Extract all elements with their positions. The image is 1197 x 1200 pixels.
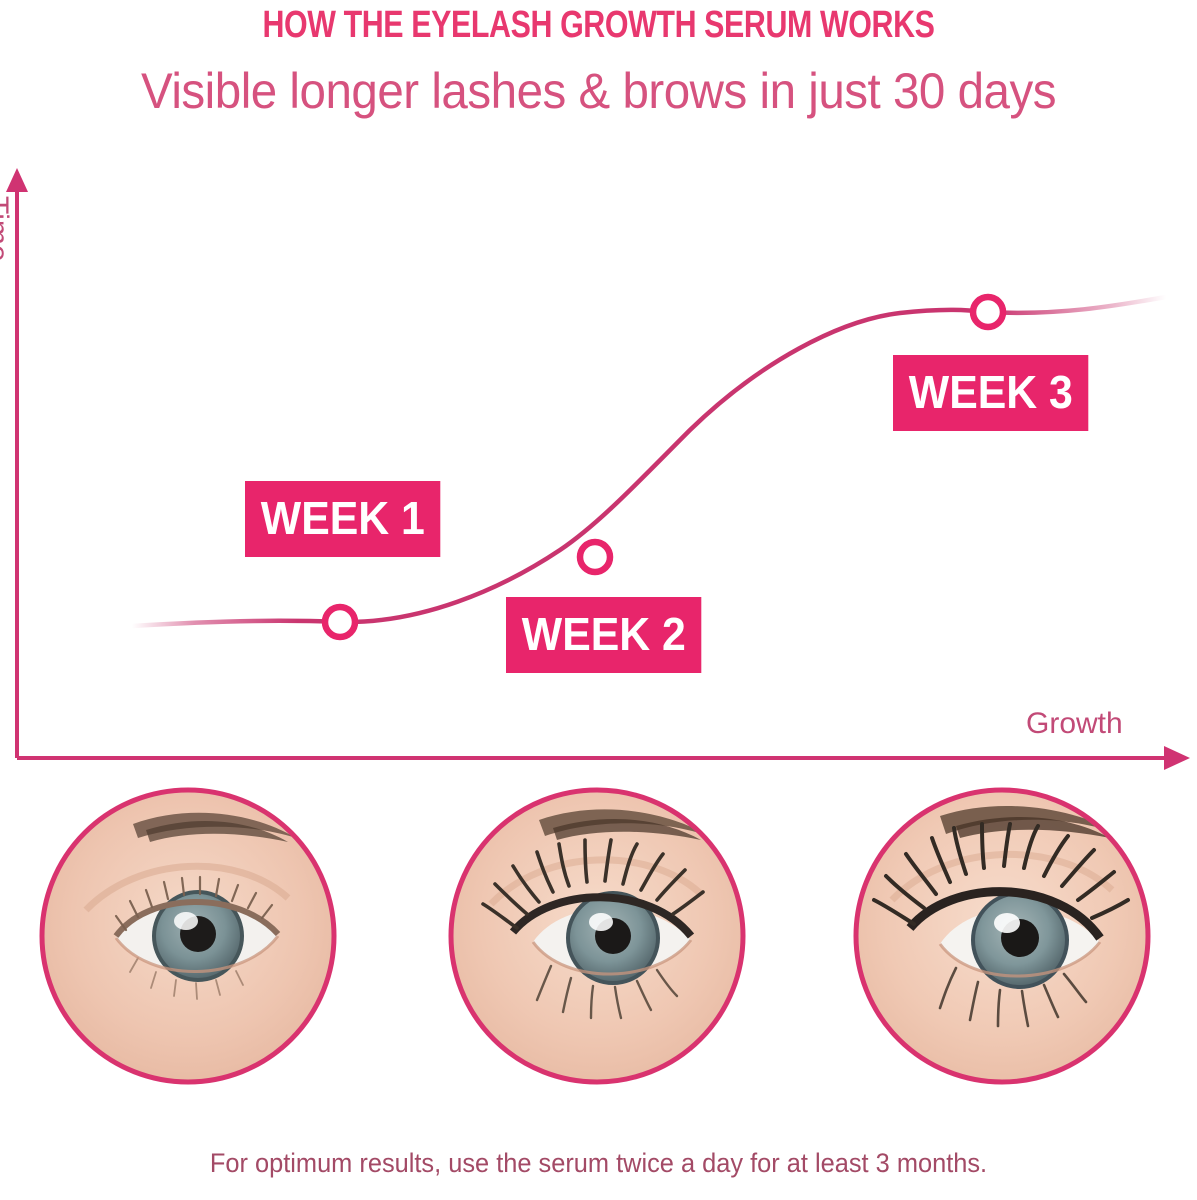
- x-axis-label: Growth: [1026, 707, 1123, 741]
- eye-photo-week-1: [38, 786, 338, 1086]
- eye-comparison-row: [0, 786, 1197, 1098]
- page-title: HOW THE EYELASH GROWTH SERUM WORKS: [120, 4, 1078, 47]
- eye-photo-week-3: [852, 786, 1152, 1086]
- page-subtitle: Visible longer lashes & brows in just 30…: [30, 62, 1167, 120]
- y-axis-arrowhead: [6, 168, 28, 192]
- eye-photo-week-2: [447, 786, 747, 1086]
- growth-curve: [132, 297, 1166, 626]
- growth-chart: Time Growth: [0, 150, 1197, 790]
- data-point-week-1: [325, 607, 355, 637]
- badge-week-3: WEEK 3: [893, 355, 1089, 431]
- badge-week-1: WEEK 1: [245, 481, 441, 557]
- x-axis-arrowhead: [1164, 746, 1190, 770]
- y-axis-label: Time: [0, 196, 14, 262]
- data-point-week-3: [973, 297, 1003, 327]
- infographic-page: HOW THE EYELASH GROWTH SERUM WORKS Visib…: [0, 0, 1197, 1200]
- footer-note: For optimum results, use the serum twice…: [36, 1148, 1161, 1179]
- data-point-week-2: [580, 542, 610, 572]
- chart-svg: [0, 150, 1197, 790]
- badge-week-2: WEEK 2: [506, 597, 702, 673]
